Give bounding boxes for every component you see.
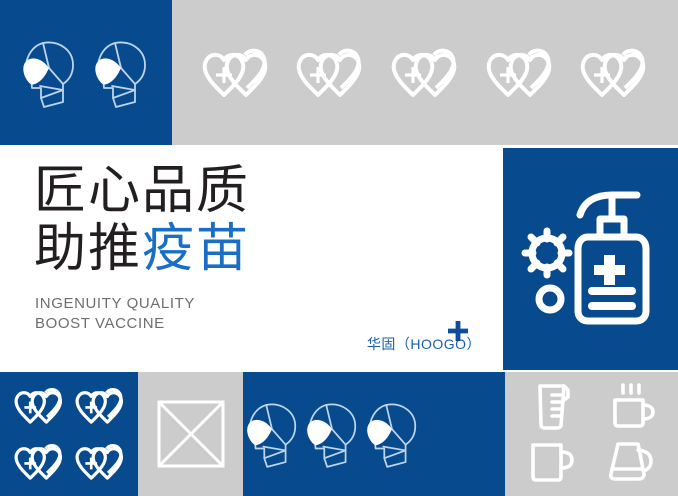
double-heart-plus-icon <box>195 45 277 101</box>
double-heart-plus-icon <box>573 45 655 101</box>
double-heart-plus-icon <box>9 385 69 427</box>
double-heart-plus-icon <box>384 45 466 101</box>
top-masked-head-panel <box>0 0 172 145</box>
double-heart-plus-icon <box>70 385 130 427</box>
headline-line-2: 助推疫苗 <box>34 220 250 278</box>
pitcher-icon <box>605 438 657 486</box>
steaming-cup-icon <box>606 381 656 431</box>
poster-canvas: 匠心品质 助推疫苗 INGENUITY QUALITY BOOST VACCIN… <box>0 0 678 496</box>
double-heart-plus-icon <box>289 45 371 101</box>
double-heart-plus-icon <box>9 441 69 483</box>
masked-head-icon <box>91 36 153 110</box>
subtitle-line-1: INGENUITY QUALITY <box>35 294 195 314</box>
headline-panel: 匠心品质 助推疫苗 INGENUITY QUALITY BOOST VACCIN… <box>0 148 503 370</box>
headline-line-2-accent: 疫苗 <box>142 220 250 278</box>
masked-head-icon <box>303 398 363 470</box>
sanitizer-bottle-icon <box>516 179 666 339</box>
subtitle-block: INGENUITY QUALITY BOOST VACCINE <box>35 294 195 334</box>
masked-head-icon <box>363 398 423 470</box>
bottom-masked-head-panel <box>243 372 505 496</box>
crossed-box-icon <box>155 398 227 470</box>
headline-line-2-prefix: 助推 <box>34 220 142 278</box>
measuring-beaker-icon <box>530 381 574 431</box>
subtitle-line-2: BOOST VACCINE <box>35 314 195 334</box>
headline-line-1: 匠心品质 <box>34 162 250 220</box>
bottom-double-heart-panel <box>0 372 138 496</box>
masked-head-icon <box>19 36 81 110</box>
headline-block: 匠心品质 助推疫苗 <box>34 162 250 278</box>
mug-icon <box>527 439 577 485</box>
drinkware-panel <box>505 372 678 496</box>
double-heart-plus-icon <box>479 45 561 101</box>
sanitizer-panel <box>503 148 678 370</box>
top-double-heart-panel <box>172 0 678 145</box>
masked-head-icon <box>243 398 303 470</box>
image-placeholder-panel <box>138 372 243 496</box>
double-heart-plus-icon <box>70 441 130 483</box>
plus-badge-icon <box>447 320 469 342</box>
